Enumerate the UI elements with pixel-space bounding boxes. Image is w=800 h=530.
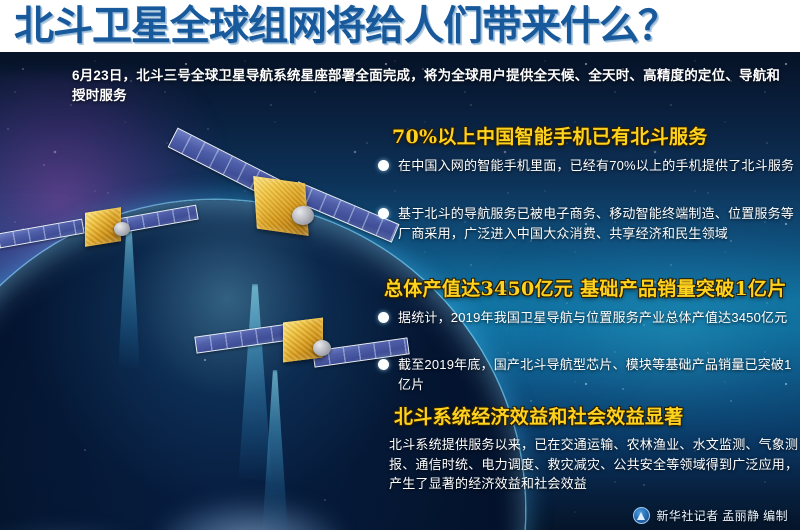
credit-text: 新华社记者 孟丽静 编制 <box>657 507 788 524</box>
space-background: 6月23日，北斗三号全球卫星导航系统星座部署全面完成，将为全球用户提供全天候、全… <box>0 52 800 530</box>
credit-line: 新华社记者 孟丽静 编制 <box>633 507 788 524</box>
antenna-dish-icon <box>114 222 130 236</box>
antenna-dish-icon <box>313 340 331 356</box>
bullet-dot-icon <box>378 312 389 323</box>
page-title: 北斗卫星全球组网将给人们带来什么？ <box>14 4 677 48</box>
section-heading-3: 北斗系统经济效益和社会效益显著 <box>394 406 800 428</box>
antenna-dish-icon <box>292 206 314 225</box>
section-paragraph-3: 北斗系统提供服务以来，已在交通运输、农林渔业、水文监测、气象测报、通信时统、电力… <box>389 435 800 494</box>
poster-header: 北斗卫星全球组网将给人们带来什么？ <box>0 0 800 52</box>
list-item: 在中国入网的智能手机里面，已经有70%以上的手机提供了北斗服务 <box>378 156 800 176</box>
section-heading-1: 70%以上中国智能手机已有北斗服务 <box>392 126 800 148</box>
bullet-text: 在中国入网的智能手机里面，已经有70%以上的手机提供了北斗服务 <box>398 156 800 176</box>
section-heading-2: 总体产值达3450亿元 基础产品销量突破1亿片 <box>384 278 800 300</box>
intro-paragraph: 6月23日，北斗三号全球卫星导航系统星座部署全面完成，将为全球用户提供全天候、全… <box>72 66 784 106</box>
list-item: 基于北斗的导航服务已被电子商务、移动智能终端制造、位置服务等厂商采用，广泛进入中… <box>378 204 800 243</box>
satellite-top <box>150 132 390 252</box>
list-item: 截至2019年底，国产北斗导航型芯片、模块等基础产品销量已突破1亿片 <box>378 355 800 394</box>
bullet-text: 截至2019年底，国产北斗导航型芯片、模块等基础产品销量已突破1亿片 <box>398 355 800 394</box>
solar-panel <box>194 323 291 353</box>
xinhua-logo-icon <box>633 507 650 524</box>
bullet-dot-icon <box>378 208 389 219</box>
content-column: 6月23日，北斗三号全球卫星导航系统星座部署全面完成，将为全球用户提供全天候、全… <box>370 52 800 530</box>
infographic-poster: 北斗卫星全球组网将给人们带来什么？ <box>0 0 800 530</box>
bullet-text: 据统计，2019年我国卫星导航与位置服务产业总体产值达3450亿元 <box>398 308 800 328</box>
list-item: 据统计，2019年我国卫星导航与位置服务产业总体产值达3450亿元 <box>378 308 800 328</box>
bullet-text: 基于北斗的导航服务已被电子商务、移动智能终端制造、位置服务等厂商采用，广泛进入中… <box>398 204 800 243</box>
bullet-dot-icon <box>378 359 389 370</box>
bullet-dot-icon <box>378 160 389 171</box>
